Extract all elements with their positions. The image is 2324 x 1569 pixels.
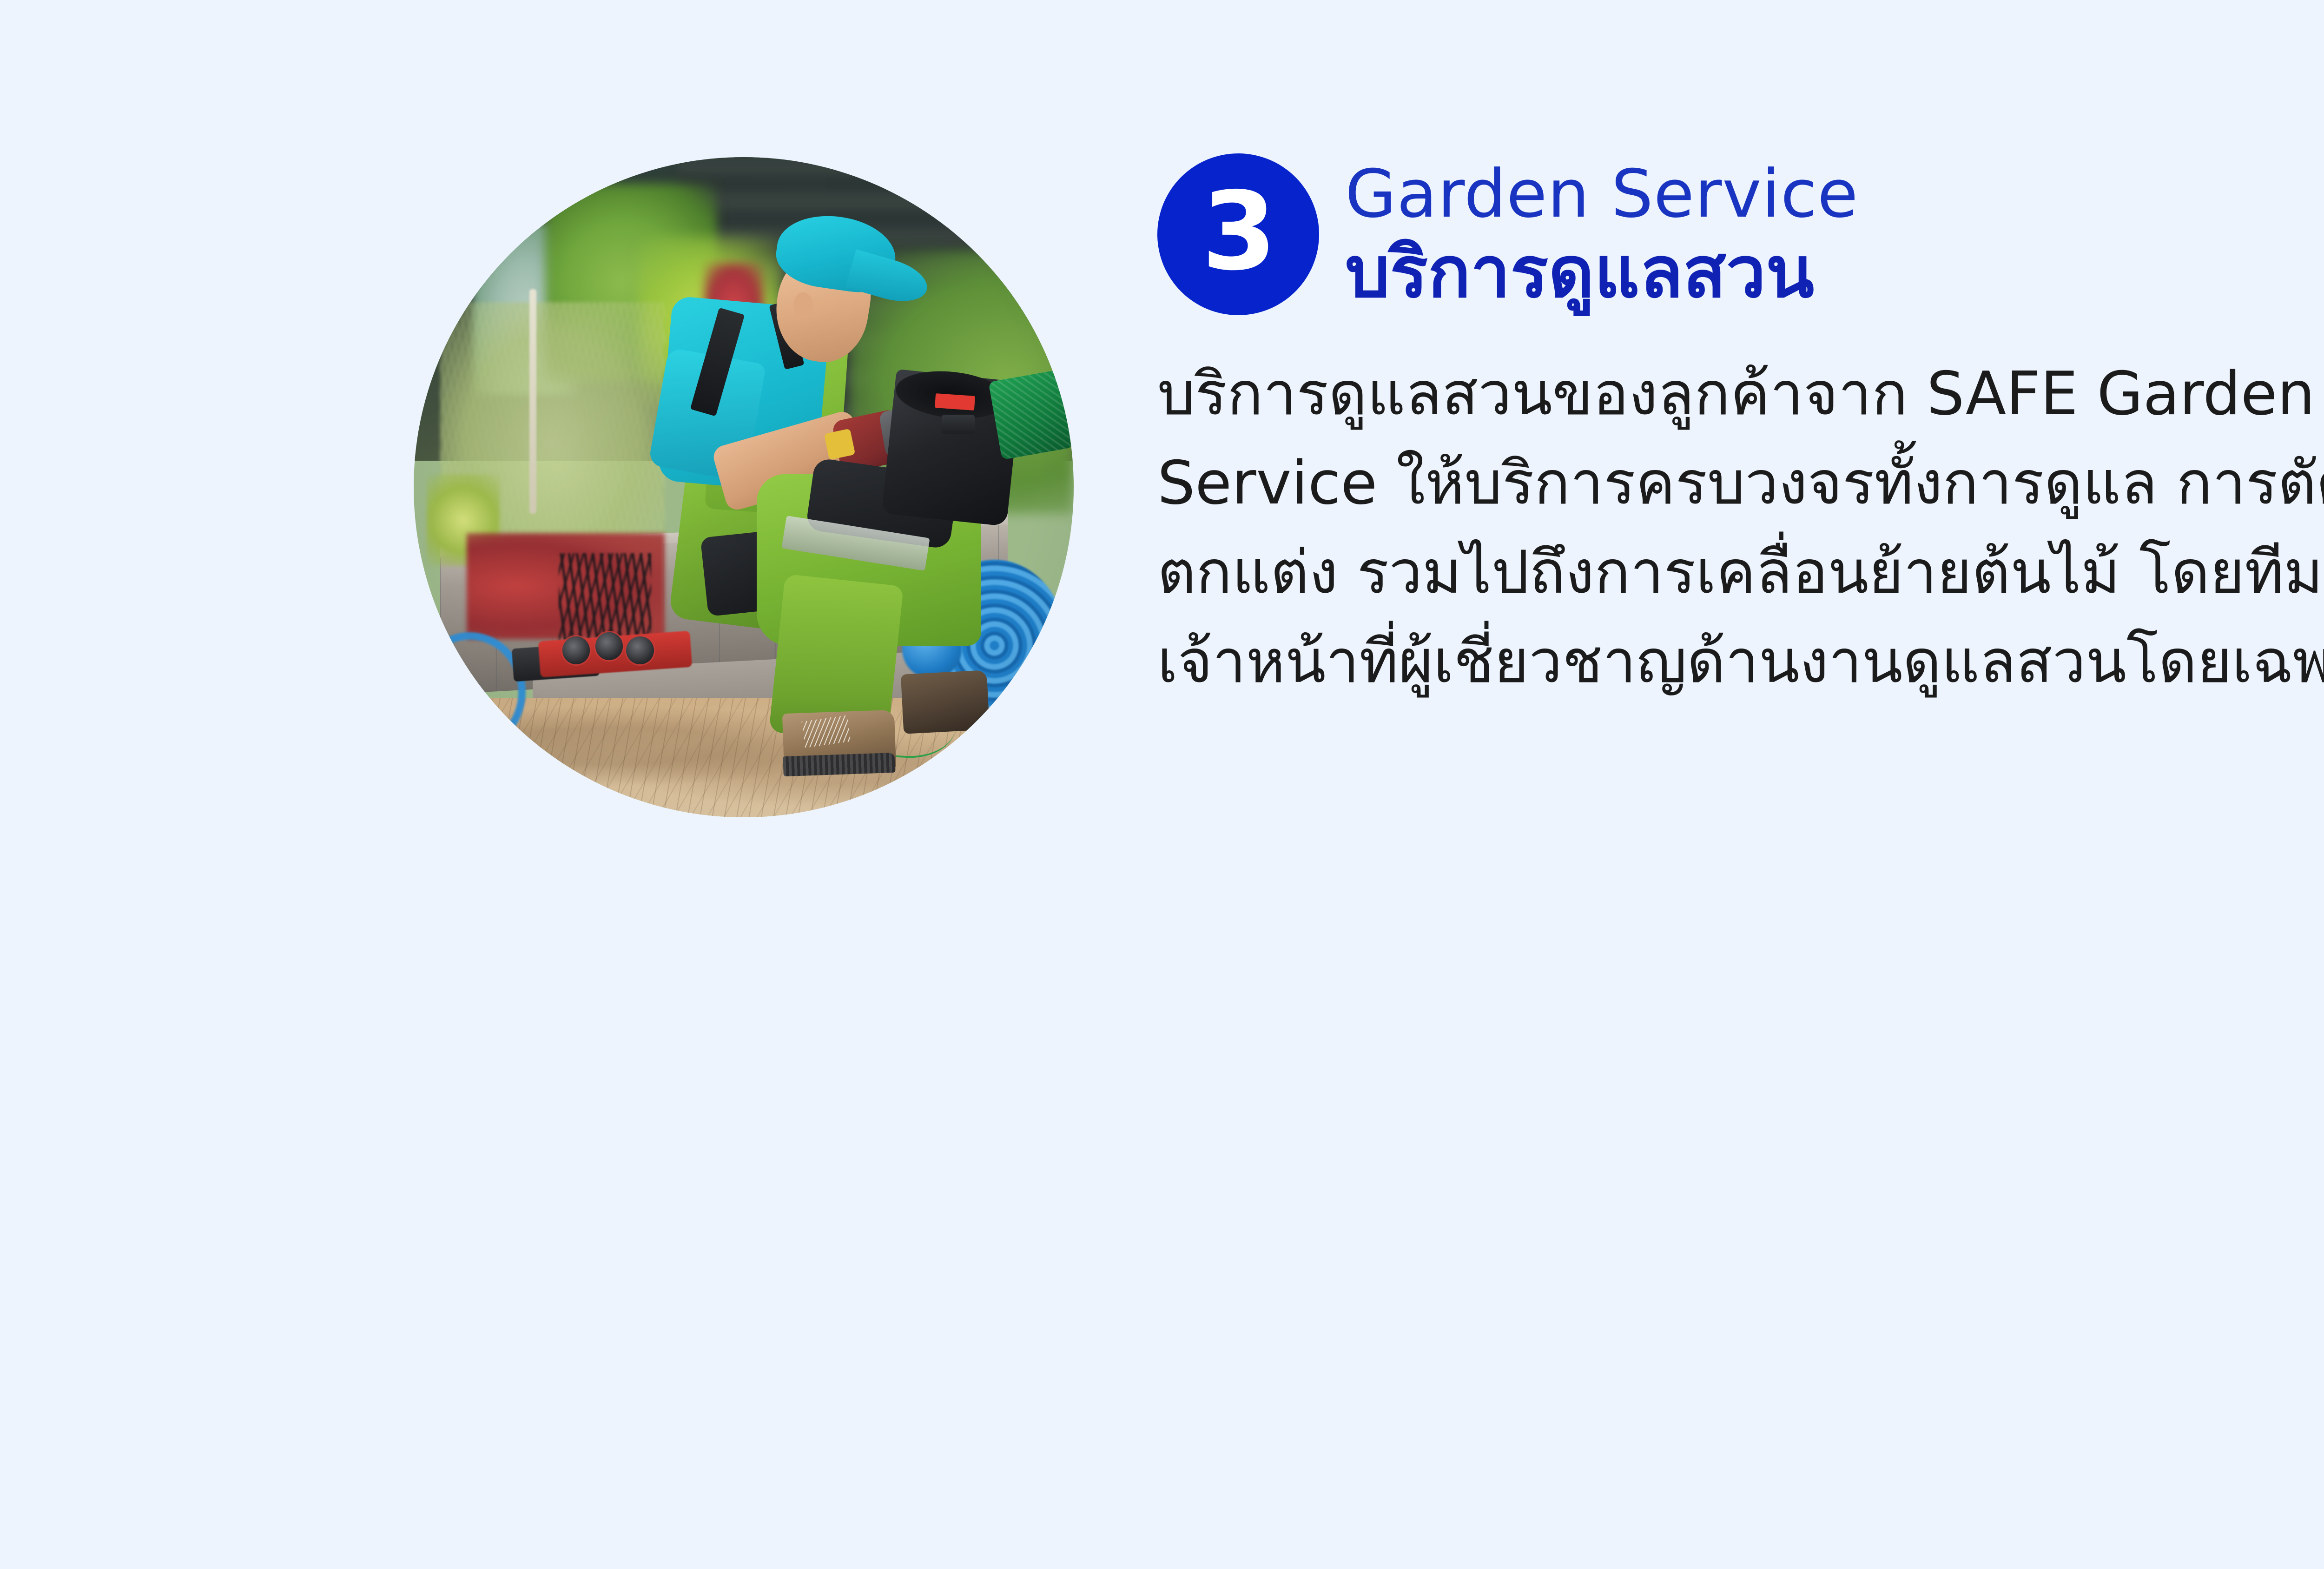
service-header: 3 Garden Service บริการดูแลสวน (1157, 153, 2324, 315)
description-line-2: Service ให้บริการครบวงจรทั้งการดูแล การต… (1157, 439, 2324, 528)
garden-service-photo (414, 157, 1074, 817)
service-description: บริการดูแลสวนของลูกค้าจาก SAFE Garden Se… (1157, 350, 2324, 707)
service-titles: Garden Service บริการดูแลสวน (1345, 153, 1858, 312)
photo-vignette (414, 157, 1074, 817)
service-card: 3 Garden Service บริการดูแลสวน บริการดูแ… (0, 0, 2324, 1569)
service-title-english: Garden Service (1345, 157, 1858, 231)
service-content: 3 Garden Service บริการดูแลสวน บริการดูแ… (1157, 153, 2324, 707)
description-line-4: เจ้าหน้าที่ผู้เชี่ยวชาญด้านงานดูแลสวนโดย… (1157, 617, 2324, 707)
description-line-1: บริการดูแลสวนของลูกค้าจาก SAFE Garden (1157, 350, 2324, 439)
service-title-thai: บริการดูแลสวน (1345, 233, 1858, 312)
description-line-3: ตกแต่ง รวมไปถึงการเคลื่อนย้ายต้นไม้ โดยท… (1157, 528, 2324, 617)
step-number-badge: 3 (1157, 153, 1319, 315)
photo-scene (414, 157, 1074, 817)
